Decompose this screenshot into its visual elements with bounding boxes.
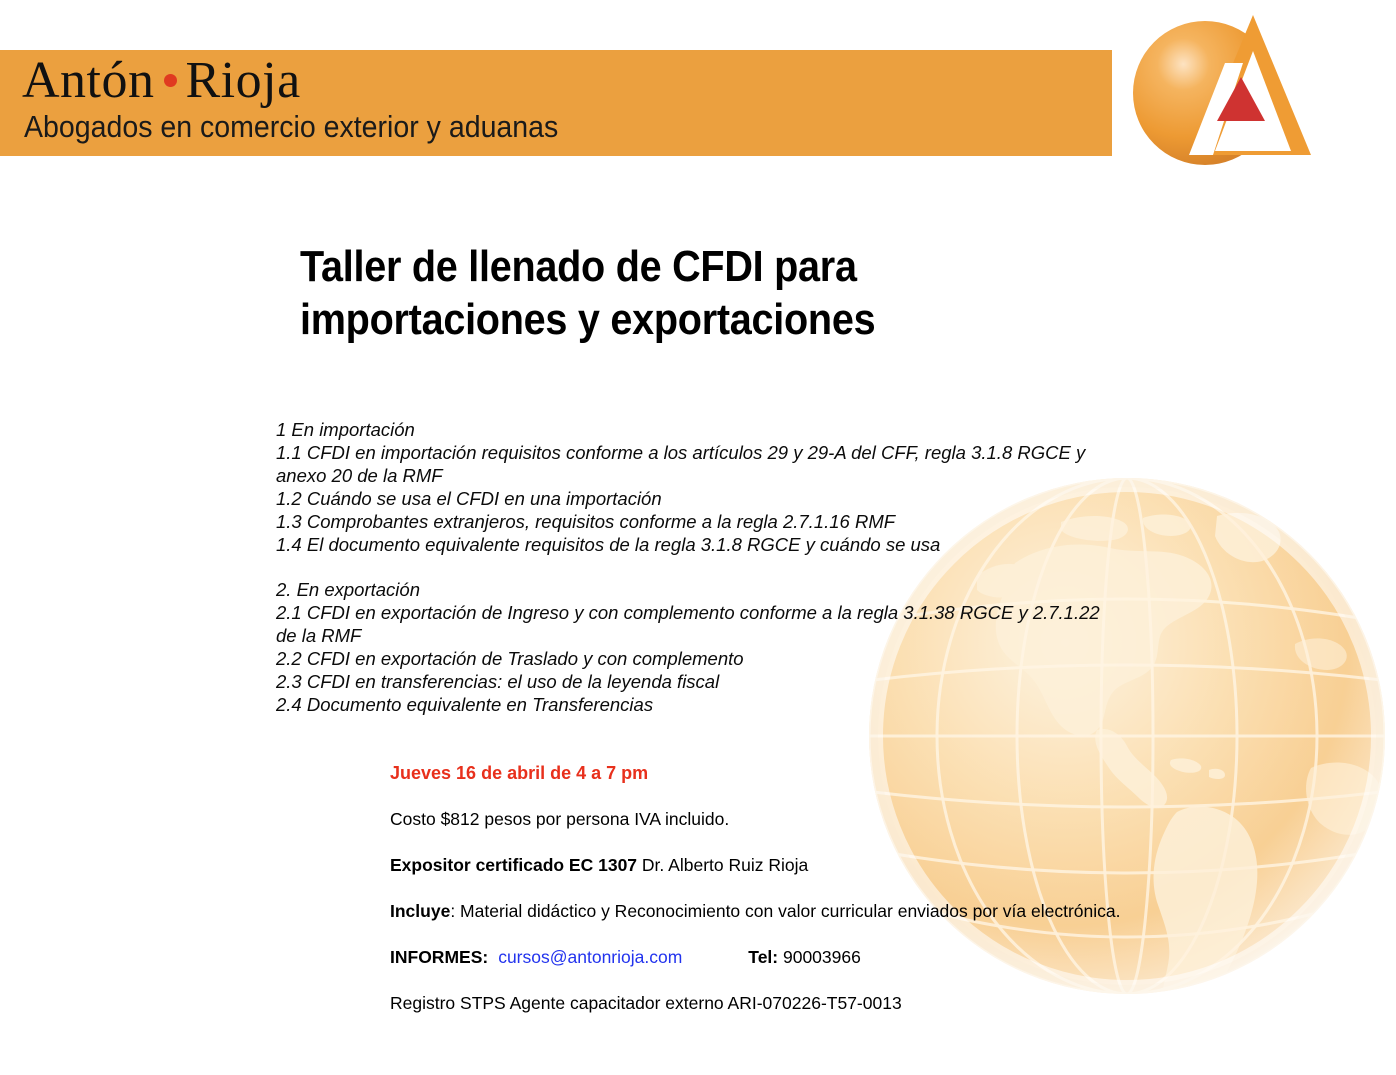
agenda-item: de la RMF [276,624,1186,647]
includes-text: : Material didáctico y Reconocimiento co… [450,901,1120,921]
registry-row: Registro STPS Agente capacitador externo… [390,992,1130,1014]
contact-row: INFORMES: cursos@antonrioja.com Tel: 900… [390,946,1130,968]
speaker-row: Expositor certificado EC 1307 Dr. Albert… [390,854,1130,876]
brand-name-rioja: Rioja [186,52,301,109]
page-header: AntónRioja Abogados en comercio exterior… [0,0,1396,200]
brand-dot-icon [164,74,177,87]
agenda-item: 1.3 Comprobantes extranjeros, requisitos… [276,510,1186,533]
includes-row: Incluye: Material didáctico y Reconocimi… [390,900,1130,922]
title-line-2: importaciones y exportaciones [300,293,984,346]
brand-tagline: Abogados en comercio exterior y aduanas [24,108,558,146]
agenda-item: 1.4 El documento equivalente requisitos … [276,533,1186,556]
speaker-certification-label: Expositor certificado EC 1307 [390,855,637,875]
includes-label: Incluye [390,901,450,921]
informes-label: INFORMES: [390,946,488,968]
brand-name-anton: Antón [22,52,155,109]
event-details: Jueves 16 de abril de 4 a 7 pm Costo $81… [390,762,1130,1014]
telephone-group: Tel: 90003966 [748,946,861,968]
agenda-item: 2.4 Documento equivalente en Transferenc… [276,693,1186,716]
agenda-section-importacion: 1 En importación 1.1 CFDI en importación… [276,418,1186,556]
speaker-name: Dr. Alberto Ruiz Rioja [637,855,808,875]
page-title: Taller de llenado de CFDI para importaci… [300,240,984,346]
brand-banner: AntónRioja Abogados en comercio exterior… [0,50,1112,156]
event-date: Jueves 16 de abril de 4 a 7 pm [390,763,648,783]
telephone-number: 90003966 [778,947,861,967]
telephone-label: Tel: [748,947,778,967]
registry-text: Registro STPS Agente capacitador externo… [390,993,902,1013]
agenda-item: 1.2 Cuándo se usa el CFDI en una importa… [276,487,1186,510]
agenda-item: 2.3 CFDI en transferencias: el uso de la… [276,670,1186,693]
agenda-outline: 1 En importación 1.1 CFDI en importación… [276,418,1186,716]
agenda-item: 1 En importación [276,418,1186,441]
event-cost: Costo $812 pesos por persona IVA incluid… [390,809,729,829]
agenda-item: anexo 20 de la RMF [276,464,1186,487]
contact-email-link[interactable]: cursos@antonrioja.com [498,946,682,968]
agenda-item: 1.1 CFDI en importación requisitos confo… [276,441,1186,464]
event-date-row: Jueves 16 de abril de 4 a 7 pm [390,762,1130,784]
title-line-1: Taller de llenado de CFDI para [300,240,984,293]
brand-wordmark: AntónRioja [22,52,301,110]
agenda-item: 2.1 CFDI en exportación de Ingreso y con… [276,601,1186,624]
anton-rioja-logo-icon [1125,5,1335,185]
agenda-item: 2. En exportación [276,578,1186,601]
agenda-item: 2.2 CFDI en exportación de Traslado y co… [276,647,1186,670]
agenda-section-exportacion: 2. En exportación 2.1 CFDI en exportació… [276,578,1186,716]
event-cost-row: Costo $812 pesos por persona IVA incluid… [390,808,1130,830]
